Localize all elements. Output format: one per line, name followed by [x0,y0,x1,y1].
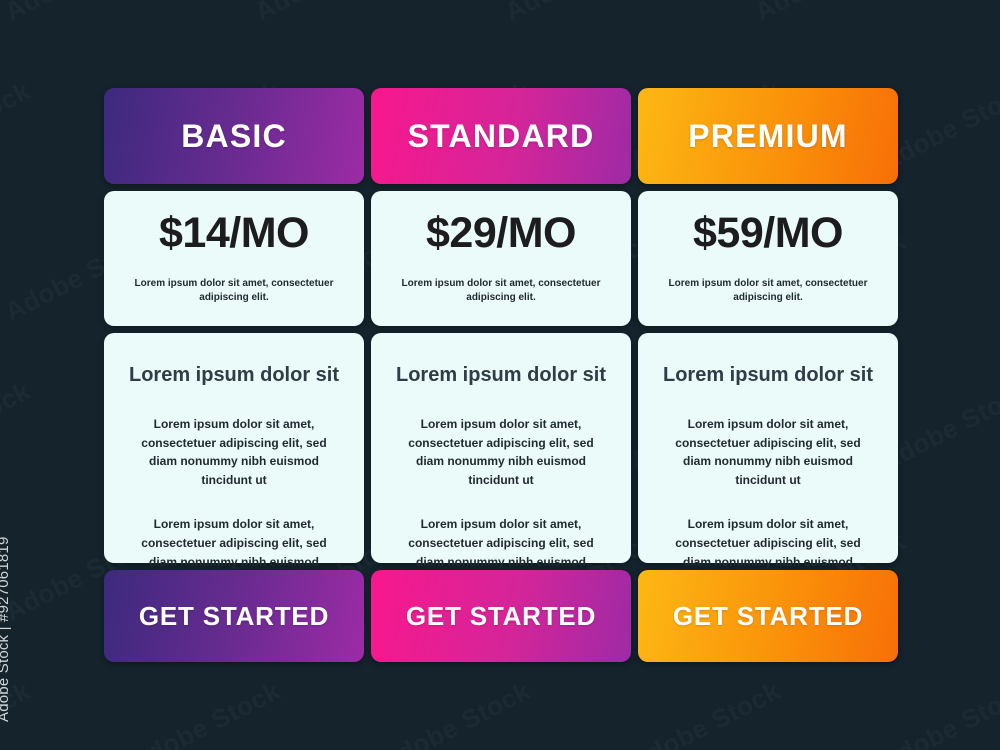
watermark-text: Adobe Stock [250,0,411,28]
plan-name-standard: STANDARD [408,118,595,155]
plan-header-basic: BASIC [104,88,364,184]
price-subtext-premium: Lorem ipsum dolor sit amet, consectetuer… [663,277,873,306]
price-amount-standard: $29/MO [426,212,576,255]
get-started-label: GET STARTED [139,601,329,632]
stock-id-watermark: Adobe Stock | #927061819 [0,536,12,722]
watermark-text: Adobe Stock [500,0,661,28]
watermark-text: Adobe Stock [0,0,161,28]
feature-item: Lorem ipsum dolor sit amet, consectetuer… [394,415,609,489]
get-started-button-basic[interactable]: GET STARTED [104,570,364,662]
feature-heading-basic: Lorem ipsum dolor sit [129,363,339,387]
feature-item: Lorem ipsum dolor sit amet, consectetuer… [127,415,342,489]
feature-card-premium: Lorem ipsum dolor sit Lorem ipsum dolor … [638,333,898,563]
watermark-text: Adobe Stock [750,0,911,28]
get-started-label: GET STARTED [406,601,596,632]
pricing-table: BASIC STANDARD PREMIUM $14/MO Lorem ipsu… [104,88,898,662]
watermark-text: Adobe Stock [625,675,786,750]
feature-heading-standard: Lorem ipsum dolor sit [396,363,606,387]
feature-card-basic: Lorem ipsum dolor sit Lorem ipsum dolor … [104,333,364,563]
feature-heading-premium: Lorem ipsum dolor sit [663,363,873,387]
watermark-text: Adobe Stock [0,75,36,177]
price-subtext-basic: Lorem ipsum dolor sit amet, consectetuer… [129,277,339,306]
plan-name-basic: BASIC [181,118,287,155]
watermark-text: Adobe Stock [375,675,536,750]
watermark-text: Adobe Stock [0,375,36,477]
plan-header-standard: STANDARD [371,88,631,184]
feature-item: Lorem ipsum dolor sit amet, consectetuer… [661,415,876,489]
plan-name-premium: PREMIUM [688,118,848,155]
get-started-button-standard[interactable]: GET STARTED [371,570,631,662]
get-started-label: GET STARTED [673,601,863,632]
feature-card-standard: Lorem ipsum dolor sit Lorem ipsum dolor … [371,333,631,563]
price-card-premium: $59/MO Lorem ipsum dolor sit amet, conse… [638,191,898,326]
price-amount-premium: $59/MO [693,212,843,255]
price-card-basic: $14/MO Lorem ipsum dolor sit amet, conse… [104,191,364,326]
price-subtext-standard: Lorem ipsum dolor sit amet, consectetuer… [396,277,606,306]
price-amount-basic: $14/MO [159,212,309,255]
price-card-standard: $29/MO Lorem ipsum dolor sit amet, conse… [371,191,631,326]
watermark-text: Adobe Stock [125,675,286,750]
watermark-text: Adobe Stock [875,675,1000,750]
plan-header-premium: PREMIUM [638,88,898,184]
get-started-button-premium[interactable]: GET STARTED [638,570,898,662]
